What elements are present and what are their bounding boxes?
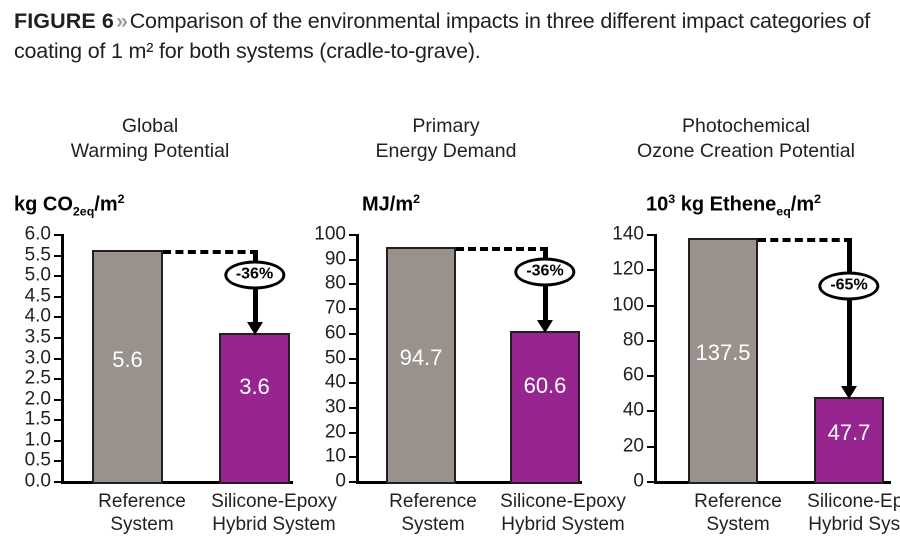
charts-row: Global Warming Potential kg CO2eq/m2 6.0… (0, 108, 900, 550)
bar-reference-system[interactable]: 137.5 (688, 238, 758, 484)
reference-level-dashed-line (758, 238, 852, 242)
y-axis-tick-label: 20 (623, 436, 644, 455)
panel-title: Photochemical Ozone Creation Potential (592, 114, 900, 164)
y-axis-tick (54, 337, 61, 339)
y-axis-tick-label: 2.5 (25, 369, 51, 388)
plot-area: 6.05.55.04.54.03.53.02.52.01.51.00.50.0 … (61, 234, 293, 484)
y-axis-tick-label: 90 (325, 249, 346, 268)
y-axis-tick-label: 70 (325, 299, 346, 318)
y-axis-tick (647, 375, 654, 377)
reduction-percentage-badge: -36% (224, 261, 285, 290)
reduction-arrow-head (537, 320, 553, 333)
y-axis-tick (54, 460, 61, 462)
y-axis-tick (54, 358, 61, 360)
y-axis-tick (54, 440, 61, 442)
category-label-reference: Reference System (368, 490, 498, 536)
y-axis-tick-label: 5.0 (25, 266, 51, 285)
reduction-arrow-head (841, 386, 857, 399)
y-axis-tick (349, 481, 356, 483)
y-axis-tick (349, 432, 356, 434)
y-axis-tick-label: 40 (325, 373, 346, 392)
bar-value-label: 5.6 (94, 349, 161, 371)
figure-caption: FIGURE 6»Comparison of the environmental… (14, 6, 886, 66)
y-axis-tick-label: 50 (325, 348, 346, 367)
y-axis-tick (349, 382, 356, 384)
y-axis-tick (647, 481, 654, 483)
plot-area: 140120100806040200 137.547.7 -65% (654, 234, 891, 484)
y-axis-tick (54, 316, 61, 318)
category-label-hybrid: Silicone-Epoxy Hybrid System (804, 490, 900, 536)
plot-area: 1009080706050403020100 94.760.6 -36% (356, 234, 582, 484)
y-axis-tick (54, 234, 61, 236)
reference-level-dashed-line (163, 250, 258, 254)
chart-panel-primary-energy-demand: Primary Energy Demand MJ/m2 100908070605… (300, 108, 592, 550)
bar-silicone-epoxy-hybrid-system[interactable]: 60.6 (510, 331, 580, 484)
panel-title: Global Warming Potential (0, 114, 300, 164)
y-axis-tick (54, 296, 61, 298)
bar-silicone-epoxy-hybrid-system[interactable]: 47.7 (814, 397, 884, 484)
y-axis-tick-label: 40 (623, 401, 644, 420)
y-axis-tick (349, 308, 356, 310)
y-axis-tick (54, 255, 61, 257)
y-axis-tick (647, 340, 654, 342)
y-axis-tick (54, 481, 61, 483)
reduction-percentage-badge: -36% (514, 258, 575, 287)
y-axis-unit-label: 103 kg Etheneeq/m2 (646, 192, 821, 219)
y-axis-tick (647, 410, 654, 412)
y-axis-tick-label: 30 (325, 397, 346, 416)
y-axis-tick-label: 100 (612, 295, 644, 314)
y-axis-tick-label: 60 (325, 323, 346, 342)
y-axis-tick-label: 140 (612, 225, 644, 244)
bar-reference-system[interactable]: 94.7 (386, 247, 456, 484)
chevron-icon: » (114, 9, 130, 33)
figure-label: FIGURE 6 (14, 9, 114, 33)
y-axis-tick-label: 100 (314, 225, 346, 244)
y-axis-tick (647, 446, 654, 448)
y-axis-tick-label: 2.0 (25, 389, 51, 408)
y-axis-tick-label: 4.0 (25, 307, 51, 326)
y-axis-tick-label: 80 (623, 330, 644, 349)
y-axis-tick (349, 456, 356, 458)
y-axis-tick-label: 1.5 (25, 410, 51, 429)
chart-panel-global-warming-potential: Global Warming Potential kg CO2eq/m2 6.0… (0, 108, 300, 550)
y-axis-tick-label: 5.5 (25, 245, 51, 264)
y-axis-tick-label: 0.0 (25, 472, 51, 491)
y-axis-tick (349, 259, 356, 261)
y-axis-tick (349, 333, 356, 335)
y-axis-line (61, 234, 64, 484)
category-label-reference: Reference System (77, 490, 207, 536)
bar-value-label: 47.7 (816, 422, 882, 444)
y-axis-tick (54, 275, 61, 277)
y-axis-tick-label: 10 (325, 447, 346, 466)
y-axis-tick (349, 407, 356, 409)
y-axis-tick (54, 419, 61, 421)
y-axis-tick-label: 80 (325, 274, 346, 293)
y-axis-tick (647, 269, 654, 271)
y-axis-tick-label: 1.0 (25, 430, 51, 449)
reference-level-dashed-line (456, 247, 548, 251)
reduction-arrow-head (247, 322, 263, 335)
reduction-arrow-shaft (847, 238, 852, 386)
y-axis-line (356, 234, 359, 484)
y-axis-tick-label: 3.0 (25, 348, 51, 367)
bar-value-label: 137.5 (690, 342, 756, 364)
y-axis-tick-label: 0.5 (25, 451, 51, 470)
y-axis-unit-label: kg CO2eq/m2 (14, 192, 125, 219)
y-axis-tick-label: 60 (623, 366, 644, 385)
y-axis-tick (54, 399, 61, 401)
y-axis-tick-label: 4.5 (25, 286, 51, 305)
bar-value-label: 60.6 (512, 375, 578, 397)
panel-title: Primary Energy Demand (300, 114, 592, 164)
y-axis-tick-label: 0 (633, 472, 644, 491)
y-axis-tick (647, 234, 654, 236)
figure-caption-text: Comparison of the environmental impacts … (14, 9, 870, 63)
y-axis-tick-label: 3.5 (25, 327, 51, 346)
y-axis-tick-label: 0 (335, 472, 346, 491)
bar-silicone-epoxy-hybrid-system[interactable]: 3.6 (219, 333, 290, 484)
y-axis-tick-label: 20 (325, 422, 346, 441)
y-axis-tick-label: 6.0 (25, 225, 51, 244)
bar-value-label: 3.6 (221, 376, 288, 398)
reduction-percentage-badge: -65% (818, 271, 879, 300)
bar-reference-system[interactable]: 5.6 (92, 250, 163, 484)
y-axis-tick-label: 120 (612, 260, 644, 279)
y-axis-tick (647, 305, 654, 307)
bar-value-label: 94.7 (388, 347, 454, 369)
y-axis-tick (349, 283, 356, 285)
y-axis-tick (349, 234, 356, 236)
category-label-reference: Reference System (672, 490, 804, 536)
y-axis-unit-label: MJ/m2 (362, 192, 420, 217)
chart-panel-photochemical-ozone-creation-potential: Photochemical Ozone Creation Potential 1… (592, 108, 900, 550)
y-axis-line (654, 234, 657, 484)
y-axis-tick (349, 358, 356, 360)
y-axis-tick (54, 378, 61, 380)
